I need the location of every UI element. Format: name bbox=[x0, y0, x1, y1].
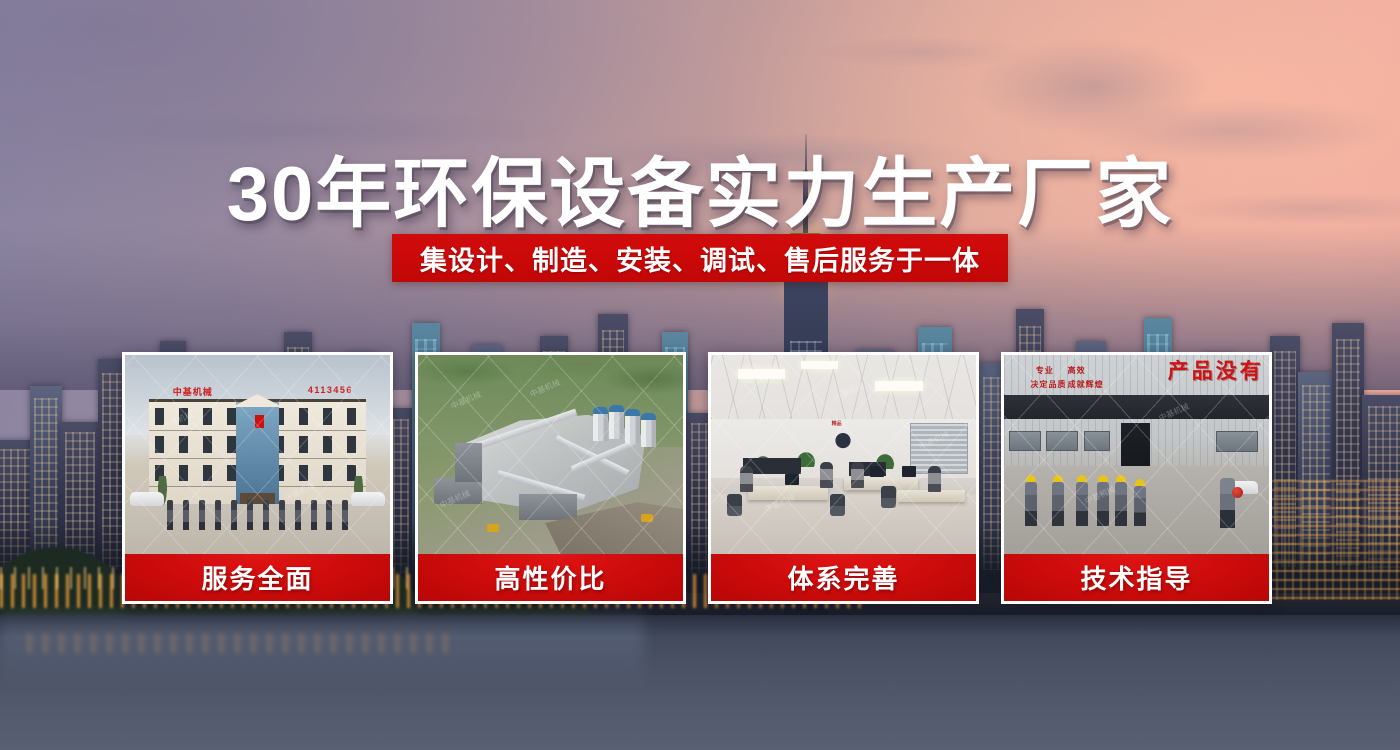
card-photo-workers-factory: 产品没有 专业 高效 决定品质 成就辉煌 bbox=[1004, 355, 1269, 554]
feature-card-list: 中基机械 4113456 中基机械 bbox=[122, 352, 1278, 604]
factory-sign-small: 专业 bbox=[1036, 365, 1054, 376]
card-caption: 服务全面 bbox=[125, 554, 390, 601]
factory-sign-text: 产品没有 bbox=[1168, 355, 1264, 385]
feature-card[interactable]: 产品没有 专业 高效 决定品质 成就辉煌 bbox=[1001, 352, 1272, 604]
card-caption: 高性价比 bbox=[418, 554, 683, 601]
subtitle-text: 集设计、制造、安装、调试、售后服务于一体 bbox=[420, 239, 980, 278]
subtitle-bar: 集设计、制造、安装、调试、售后服务于一体 bbox=[392, 234, 1008, 282]
card-caption-label: 服务全面 bbox=[201, 559, 313, 596]
feature-card[interactable]: 中基机械 中基机械 中基机械 高性价比 bbox=[415, 352, 686, 604]
card-caption: 体系完善 bbox=[711, 554, 976, 601]
water-reflection bbox=[28, 633, 448, 653]
building-phone-text: 4113456 bbox=[308, 385, 353, 395]
feature-card[interactable]: 精品 中基机械 bbox=[708, 352, 979, 604]
card-caption: 技术指导 bbox=[1004, 554, 1269, 601]
card-photo-industrial-plant: 中基机械 中基机械 中基机械 bbox=[418, 355, 683, 554]
promo-banner: 30年环保设备实力生产厂家 集设计、制造、安装、调试、售后服务于一体 bbox=[0, 0, 1400, 750]
card-caption-label: 高性价比 bbox=[494, 559, 606, 596]
card-caption-label: 技术指导 bbox=[1080, 559, 1192, 596]
card-photo-office-interior: 精品 中基机械 bbox=[711, 355, 976, 554]
factory-sign-small: 成就辉煌 bbox=[1068, 379, 1104, 390]
building-sign-text: 中基机械 bbox=[173, 385, 213, 398]
card-photo-office-building: 中基机械 4113456 中基机械 bbox=[125, 355, 390, 554]
feature-card[interactable]: 中基机械 4113456 中基机械 bbox=[122, 352, 393, 604]
factory-sign-small: 决定品质 bbox=[1031, 379, 1067, 390]
page-title: 30年环保设备实力生产厂家 bbox=[0, 132, 1400, 242]
factory-sign-small: 高效 bbox=[1068, 365, 1086, 376]
card-caption-label: 体系完善 bbox=[787, 559, 899, 596]
